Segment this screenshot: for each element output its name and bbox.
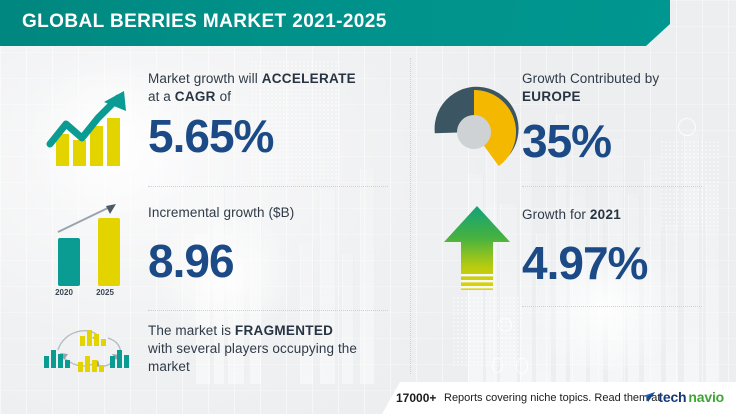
horizontal-divider-left-2 [148, 310, 388, 312]
footer-bar: 17000+ Reports covering niche topics. Re… [382, 382, 736, 414]
incremental-growth-value: 8.96 [148, 238, 234, 284]
up-arrow-icon [442, 202, 512, 298]
left-block-1-bold-2: CAGR [175, 89, 216, 104]
left-block-1-text-1: Market growth will [148, 71, 262, 86]
footer-report-count: 17000+ [396, 391, 436, 405]
background-ring [498, 318, 512, 332]
horizontal-divider-left-1 [148, 186, 388, 188]
background-ring [678, 118, 696, 136]
logo-text-tech: tech [658, 389, 686, 405]
left-block-1-text-3: of [216, 89, 231, 104]
background-ring [516, 358, 528, 374]
left-block-1-text-2: at a [148, 89, 175, 104]
footer-tagline: Reports covering niche topics. Read them… [444, 392, 660, 404]
background-dot-grid [452, 296, 522, 366]
right-block-1-text: Growth Contributed by EUROPE [522, 70, 722, 106]
horizontal-divider-right-1 [522, 186, 702, 188]
left-block-3-text-1: The market is [148, 323, 235, 338]
left-block-1-bold-1: ACCELERATE [262, 71, 356, 86]
right-block-2-text-1: Growth for [522, 207, 590, 222]
cagr-value: 5.65% [148, 113, 273, 159]
left-block-3-text-2: with several players occupying the [148, 341, 357, 356]
horizontal-divider-right-2 [522, 306, 702, 308]
logo-text-navio: navio [688, 389, 724, 405]
right-block-1-bold-1: EUROPE [522, 89, 581, 104]
right-block-1-text-1: Growth Contributed by [522, 71, 659, 86]
left-block-3-text: The market is FRAGMENTED with several pl… [148, 322, 398, 376]
vertical-divider [410, 58, 412, 374]
background-ring [492, 358, 503, 373]
growth-2021-value: 4.97% [522, 240, 647, 286]
left-block-1-text: Market growth will ACCELERATE at a CAGR … [148, 70, 398, 106]
two-bars-comparison-icon [36, 196, 134, 300]
fragmented-market-network-icon [36, 322, 134, 378]
donut-chart-icon [428, 86, 520, 178]
infographic-root: GLOBAL BERRIES MARKET 2021-2025 Market g… [0, 0, 736, 414]
left-block-2-text: Incremental growth ($B) [148, 204, 398, 222]
technavio-mark-icon [642, 390, 656, 404]
bar-label-2020: 2020 [47, 288, 81, 297]
right-block-2-text: Growth for 2021 [522, 206, 722, 224]
bar-label-2025: 2025 [88, 288, 122, 297]
right-block-2-bold-1: 2021 [590, 207, 621, 222]
left-block-3-bold-1: FRAGMENTED [235, 323, 333, 338]
europe-growth-value: 35% [522, 118, 611, 164]
technavio-logo[interactable]: technavio [642, 389, 724, 405]
growth-arrow-chart-icon [36, 78, 134, 170]
left-block-3-text-3: market [148, 359, 190, 374]
page-title: GLOBAL BERRIES MARKET 2021-2025 [22, 11, 387, 33]
